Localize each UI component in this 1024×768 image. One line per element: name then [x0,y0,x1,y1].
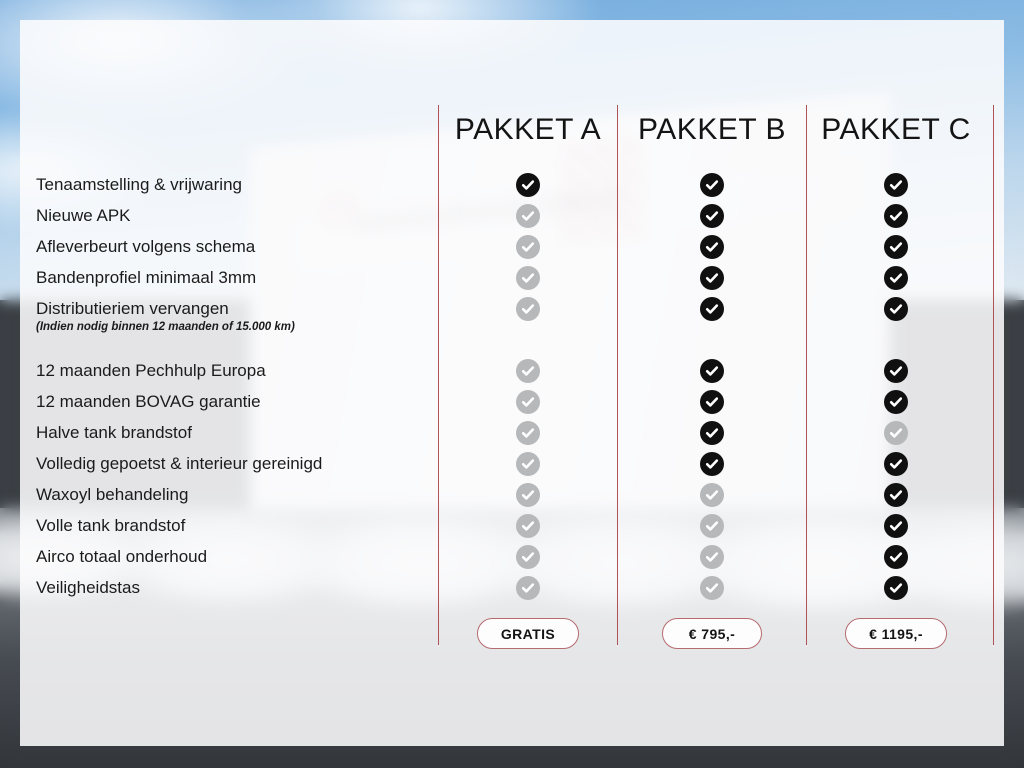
check-excluded-icon [516,576,540,600]
check-included-icon [884,514,908,538]
feature-label: Distributieriem vervangen [36,299,229,319]
check-excluded-icon [516,204,540,228]
check-included-icon [700,359,724,383]
check-included-icon [884,266,908,290]
feature-label: Bandenprofiel minimaal 3mm [36,268,256,288]
column-divider-1 [438,105,439,645]
check-excluded-icon [700,483,724,507]
feature-label: Veiligheidstas [36,578,140,598]
column-divider-4 [993,105,994,645]
check-excluded-icon [516,297,540,321]
check-excluded-icon [516,359,540,383]
check-included-icon [700,452,724,476]
check-included-icon [516,173,540,197]
check-included-icon [884,297,908,321]
check-included-icon [700,421,724,445]
column-header-c: PAKKET C [786,113,1006,147]
check-included-icon [700,173,724,197]
check-excluded-icon [516,421,540,445]
price-badge-c[interactable]: € 1195,- [845,618,947,649]
feature-label: Volledig gepoetst & interieur gereinigd [36,454,322,474]
feature-label: Airco totaal onderhoud [36,547,207,567]
check-excluded-icon [516,545,540,569]
feature-note: (Indien nodig binnen 12 maanden of 15.00… [36,321,295,333]
check-included-icon [884,235,908,259]
feature-label: Afleverbeurt volgens schema [36,237,255,257]
check-included-icon [700,266,724,290]
check-excluded-icon [516,266,540,290]
check-excluded-icon [516,514,540,538]
feature-label: Waxoyl behandeling [36,485,188,505]
feature-label: Tenaamstelling & vrijwaring [36,175,242,195]
check-included-icon [884,390,908,414]
check-included-icon [884,576,908,600]
check-included-icon [700,235,724,259]
check-excluded-icon [700,545,724,569]
column-divider-3 [806,105,807,645]
check-included-icon [700,390,724,414]
check-included-icon [884,204,908,228]
check-included-icon [884,359,908,383]
feature-label: Volle tank brandstof [36,516,185,536]
price-badge-b[interactable]: € 795,- [662,618,762,649]
check-excluded-icon [516,390,540,414]
check-included-icon [700,297,724,321]
check-included-icon [884,173,908,197]
comparison-poster: VAKGARAGE GIELE PAKKET APAKKET BPAKKET C… [0,0,1024,768]
check-excluded-icon [700,576,724,600]
check-included-icon [884,483,908,507]
check-excluded-icon [700,514,724,538]
price-badge-a[interactable]: GRATIS [477,618,579,649]
feature-label: 12 maanden BOVAG garantie [36,392,261,412]
feature-label: Halve tank brandstof [36,423,192,443]
check-included-icon [884,545,908,569]
check-excluded-icon [516,483,540,507]
check-included-icon [700,204,724,228]
check-excluded-icon [884,421,908,445]
check-excluded-icon [516,452,540,476]
check-included-icon [884,452,908,476]
package-comparison-table: PAKKET APAKKET BPAKKET CTenaamstelling &… [0,0,1024,768]
check-excluded-icon [516,235,540,259]
feature-label: 12 maanden Pechhulp Europa [36,361,266,381]
feature-label: Nieuwe APK [36,206,131,226]
column-divider-2 [617,105,618,645]
